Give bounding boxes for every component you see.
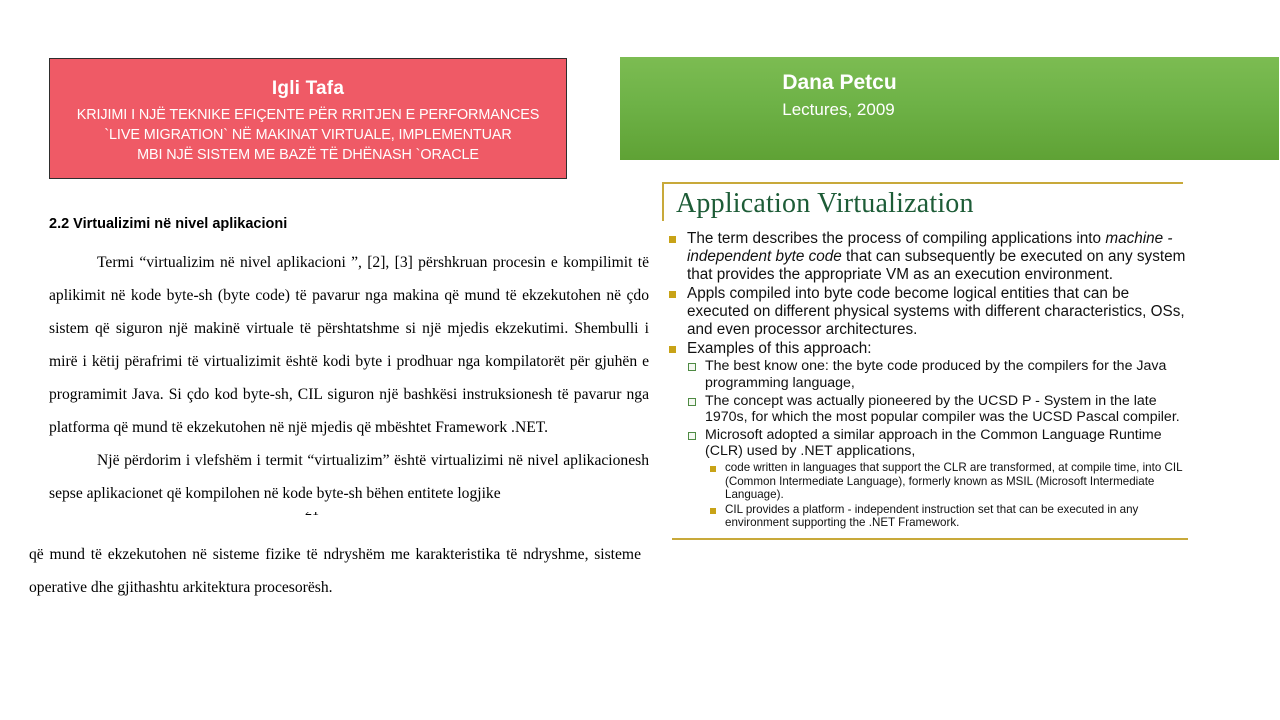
bullet-level2-text: The concept was actually pioneered by th…: [705, 393, 1190, 426]
slide-title: Application Virtualization: [676, 187, 1183, 221]
thesis-author-name: Igli Tafa: [50, 79, 566, 100]
hollow-square-bullet-icon: [688, 363, 696, 371]
bullet-level2-text: The best know one: the byte code produce…: [705, 358, 1190, 391]
page-number-value: 21: [305, 512, 345, 519]
bullet-level3-item: code written in languages that support t…: [662, 461, 1190, 502]
document-body: 2.2 Virtualizimi në nivel aplikacioni Te…: [29, 216, 649, 510]
lecture-series-meta: Lectures, 2009: [620, 98, 1279, 122]
presentation-slide: Application Virtualization The term desc…: [662, 182, 1192, 540]
bullet-level3-item: CIL provides a platform - independent in…: [662, 503, 1190, 530]
square-bullet-icon: [669, 236, 676, 243]
slide-bottom-divider: [672, 538, 1188, 540]
small-square-bullet-icon: [710, 508, 716, 514]
page-number-clipped: 21: [305, 512, 345, 520]
bullet-level1-text: Examples of this approach:: [687, 340, 1190, 358]
hollow-square-bullet-icon: [688, 398, 696, 406]
square-bullet-icon: [669, 346, 676, 353]
bullet-level2-text: Microsoft adopted a similar approach in …: [705, 427, 1190, 460]
thesis-title-text: KRIJIMI I NJË TEKNIKE EFIÇENTE PËR RRITJ…: [50, 106, 566, 166]
bullet-level3-text: code written in languages that support t…: [725, 461, 1190, 502]
document-tail: që mund të ekzekutohen në sisteme fizike…: [29, 538, 644, 604]
section-heading: 2.2 Virtualizimi në nivel aplikacioni: [49, 216, 649, 232]
bullet-level1-text: Appls compiled into byte code become log…: [687, 285, 1190, 339]
thesis-title-card: Igli Tafa KRIJIMI I NJË TEKNIKE EFIÇENTE…: [49, 58, 567, 179]
document-paragraph-3: që mund të ekzekutohen në sisteme fizike…: [29, 538, 641, 604]
document-paragraph-2: Një përdorim i vlefshëm i termit “virtua…: [49, 444, 649, 510]
thesis-title-line-3: MBI NJË SISTEM ME BAZË TË DHËNASH `ORACL…: [56, 146, 560, 166]
thesis-title-line-1: KRIJIMI I NJË TEKNIKE EFIÇENTE PËR RRITJ…: [56, 106, 560, 126]
bullet-level2-item: Microsoft adopted a similar approach in …: [662, 427, 1190, 460]
thesis-title-line-2: `LIVE MIGRATION` NË MAKINAT VIRTUALE, IM…: [56, 126, 560, 146]
lecture-header-card: Dana Petcu Lectures, 2009: [620, 57, 1279, 160]
lecturer-name: Dana Petcu: [620, 70, 1279, 96]
square-bullet-icon: [669, 291, 676, 298]
bullet-level1-text: The term describes the process of compil…: [687, 230, 1190, 284]
hollow-square-bullet-icon: [688, 432, 696, 440]
bullet-level2-item: The best know one: the byte code produce…: [662, 358, 1190, 391]
bullet-level2-item: The concept was actually pioneered by th…: [662, 393, 1190, 426]
document-paragraph-1: Termi “virtualizim në nivel aplikacioni …: [49, 246, 649, 444]
small-square-bullet-icon: [710, 466, 716, 472]
bullet-level1-item: Examples of this approach:: [662, 340, 1190, 358]
bullet-level1-item: The term describes the process of compil…: [662, 230, 1190, 284]
bullet-text-pre: The term describes the process of compil…: [687, 230, 1105, 247]
bullet-level1-item: Appls compiled into byte code become log…: [662, 285, 1190, 339]
slide-title-container: Application Virtualization: [662, 182, 1183, 221]
bullet-level3-text: CIL provides a platform - independent in…: [725, 503, 1190, 530]
slide-canvas: Igli Tafa KRIJIMI I NJË TEKNIKE EFIÇENTE…: [0, 0, 1280, 720]
slide-bullet-list: The term describes the process of compil…: [662, 230, 1190, 530]
